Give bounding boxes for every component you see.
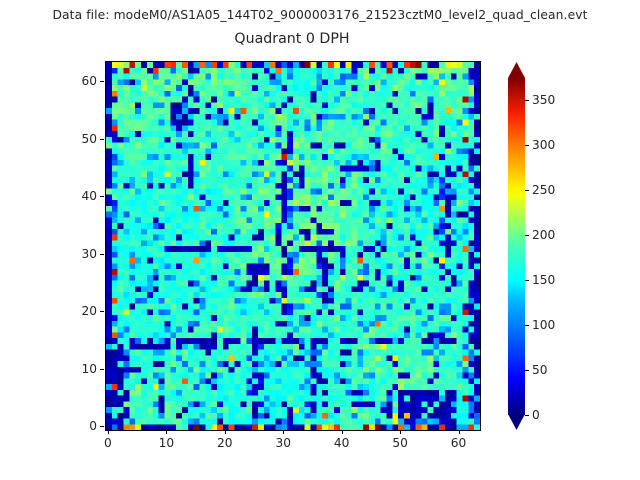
colorbar-tick-label: 100 xyxy=(532,318,555,332)
colorbar-tick-label: 150 xyxy=(532,273,555,287)
y-tick-label: 30 xyxy=(81,247,97,261)
colorbar-tick-mark xyxy=(525,145,529,146)
colorbar-tick-mark xyxy=(525,235,529,236)
matplotlib-figure: Data file: modeM0/AS1A05_144T02_90000031… xyxy=(0,0,640,480)
y-tick-mark xyxy=(100,139,104,140)
x-tick-mark xyxy=(225,430,226,434)
colorbar-tick-mark xyxy=(525,190,529,191)
x-tick-mark xyxy=(459,430,460,434)
y-tick-mark xyxy=(100,311,104,312)
y-tick-label: 10 xyxy=(81,362,97,376)
x-tick-mark xyxy=(283,430,284,434)
colorbar-tick-label: 300 xyxy=(532,138,555,152)
colorbar-tick-mark xyxy=(525,280,529,281)
x-tick-label: 60 xyxy=(451,436,467,450)
x-tick-mark xyxy=(342,430,343,434)
y-tick-mark xyxy=(100,369,104,370)
x-tick-label: 10 xyxy=(159,436,175,450)
y-tick-label: 60 xyxy=(81,74,97,88)
dph-heatmap-image xyxy=(106,62,480,430)
colorbar-tick-label: 350 xyxy=(532,93,555,107)
y-tick-label: 50 xyxy=(81,132,97,146)
colorbar-tick-label: 0 xyxy=(532,408,540,422)
colorbar-tick-label: 250 xyxy=(532,183,555,197)
y-tick-mark xyxy=(100,81,104,82)
x-tick-label: 0 xyxy=(104,436,112,450)
dph-heatmap-axes[interactable] xyxy=(105,61,481,431)
colorbar-tick-mark xyxy=(525,370,529,371)
y-tick-mark xyxy=(100,196,104,197)
figure-suptitle: Data file: modeM0/AS1A05_144T02_90000031… xyxy=(0,8,640,22)
y-tick-mark xyxy=(100,426,104,427)
x-tick-label: 50 xyxy=(392,436,408,450)
y-tick-label: 40 xyxy=(81,189,97,203)
x-tick-mark xyxy=(400,430,401,434)
x-tick-label: 40 xyxy=(334,436,350,450)
colorbar-under-arrow-icon xyxy=(508,414,525,430)
x-tick-label: 30 xyxy=(275,436,291,450)
colorbar-tick-mark xyxy=(525,100,529,101)
y-tick-mark xyxy=(100,254,104,255)
x-tick-mark xyxy=(108,430,109,434)
colorbar-tick-mark xyxy=(525,415,529,416)
colorbar[interactable]: 050100150200250300350 xyxy=(508,62,525,430)
x-tick-label: 20 xyxy=(217,436,233,450)
axes-title: Quadrant 0 DPH xyxy=(0,31,584,47)
colorbar-tick-mark xyxy=(525,325,529,326)
colorbar-over-arrow-icon xyxy=(508,62,525,78)
y-tick-label: 20 xyxy=(81,304,97,318)
colorbar-gradient xyxy=(508,78,525,415)
y-tick-label: 0 xyxy=(89,419,97,433)
x-tick-mark xyxy=(166,430,167,434)
colorbar-tick-label: 200 xyxy=(532,228,555,242)
colorbar-tick-label: 50 xyxy=(532,363,548,377)
